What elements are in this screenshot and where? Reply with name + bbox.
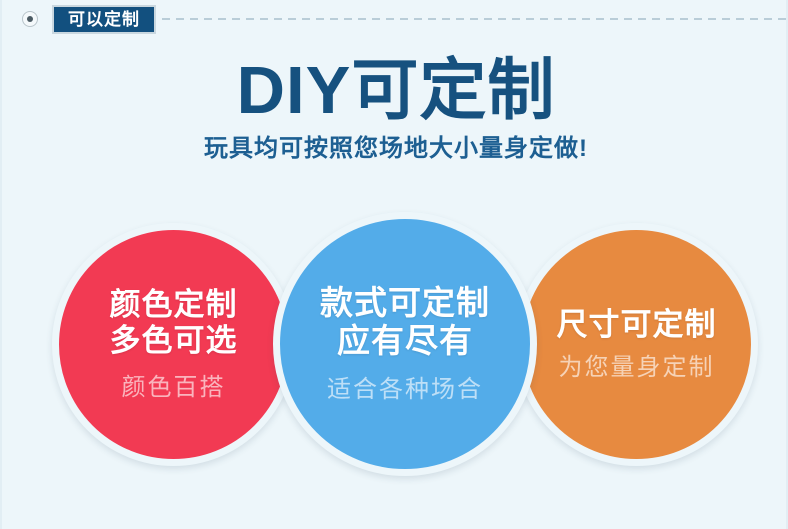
promo-banner: 可以定制 DIY可定制 玩具均可按照您场地大小量身定做! 颜色定制 多色可选 颜… <box>0 0 788 529</box>
feature-bubble-size-note: 为您量身定制 <box>559 347 715 382</box>
feature-bubble-size[interactable]: 尺寸可定制 为您量身定制 <box>515 223 758 466</box>
feature-bubble-size-heading: 尺寸可定制 <box>557 307 717 343</box>
feature-bubble-color-heading-line1: 颜色定制 <box>110 287 238 323</box>
feature-bubble-color-heading: 颜色定制 多色可选 <box>110 287 238 359</box>
feature-bubble-style[interactable]: 款式可定制 应有尽有 适合各种场合 <box>273 212 537 476</box>
feature-bubble-style-heading-line1: 款式可定制 <box>320 284 490 322</box>
feature-bubble-color[interactable]: 颜色定制 多色可选 颜色百搭 <box>52 223 295 466</box>
feature-bubble-color-heading-line2: 多色可选 <box>110 323 238 359</box>
feature-bubble-group: 颜色定制 多色可选 颜色百搭 款式可定制 应有尽有 适合各种场合 尺寸可定制 为… <box>2 0 788 529</box>
feature-bubble-size-heading-line1: 尺寸可定制 <box>557 307 717 343</box>
feature-bubble-color-note: 颜色百搭 <box>122 367 226 402</box>
feature-bubble-style-note: 适合各种场合 <box>327 369 483 404</box>
feature-bubble-style-heading-line2: 应有尽有 <box>320 322 490 360</box>
feature-bubble-style-heading: 款式可定制 应有尽有 <box>320 284 490 361</box>
